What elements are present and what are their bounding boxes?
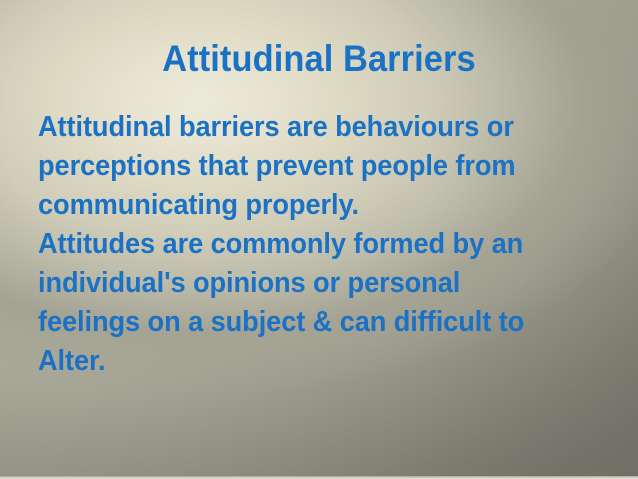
body-line: communicating properly. [38,186,592,225]
slide-content: Attitudinal Barriers Attitudinal barrier… [0,0,638,479]
body-line: individual's opinions or personal [38,264,592,303]
body-line: Alter. [38,342,592,381]
presentation-slide: Attitudinal Barriers Attitudinal barrier… [0,0,638,479]
slide-title: Attitudinal Barriers [22,37,615,81]
body-line: perceptions that prevent people from [38,147,592,186]
body-line: Attitudes are commonly formed by an [38,225,592,264]
body-line: Attitudinal barriers are behaviours or [38,108,592,147]
slide-body-text: Attitudinal barriers are behaviours or p… [38,108,618,381]
body-line: feelings on a subject & can difficult to [38,303,592,342]
